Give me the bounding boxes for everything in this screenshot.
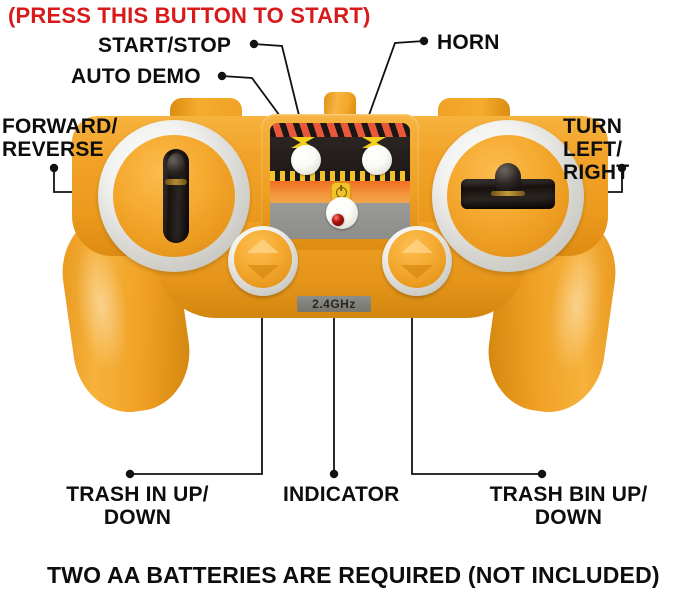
- leader-dot-trash-in: [126, 470, 134, 478]
- callout-label-trash-in: TRASH IN UP/ DOWN: [55, 483, 220, 529]
- hazard-stripe-band: [270, 123, 410, 137]
- vertical-lever-icon[interactable]: [163, 149, 189, 243]
- leader-dot-auto-demo: [218, 72, 226, 80]
- leader-dot-trash-bin: [538, 470, 546, 478]
- stick-bezel-left: [113, 135, 235, 257]
- callout-label-indicator: INDICATOR: [283, 483, 400, 506]
- callout-label-forward-reverse: FORWARD/ REVERSE: [2, 115, 118, 161]
- horizontal-lever-icon[interactable]: [461, 179, 555, 209]
- leader-dot-start-stop: [250, 40, 258, 48]
- dial-face-left: [234, 230, 292, 288]
- callout-label-auto-demo: AUTO DEMO: [71, 65, 201, 88]
- callout-label-turn-left-right: TURN LEFT/ RIGHT: [563, 115, 679, 184]
- dotted-band: [270, 171, 410, 181]
- start-stop-button[interactable]: [291, 145, 321, 175]
- turn-left-right-stick[interactable]: [432, 120, 584, 272]
- arrow-down-icon: [401, 265, 433, 279]
- horn-button[interactable]: [362, 145, 392, 175]
- trash-bin-dial[interactable]: [382, 226, 452, 296]
- forward-reverse-stick[interactable]: [98, 120, 250, 272]
- callout-label-trash-bin: TRASH BIN UP/ DOWN: [481, 483, 656, 529]
- rc-remote-controller: 2.4GHz: [60, 92, 620, 412]
- leader-dot-forward-reverse: [50, 164, 58, 172]
- callout-label-start-stop: START/STOP: [98, 34, 231, 57]
- stick-bezel-right: [447, 135, 569, 257]
- diagram-canvas: 2.4GHz (PRESS THIS BUTTON TO START) STAR…: [0, 0, 679, 600]
- trash-in-dial[interactable]: [228, 226, 298, 296]
- arrow-down-icon: [247, 265, 279, 279]
- indicator-led: [332, 214, 344, 226]
- arrow-up-icon: [401, 239, 433, 253]
- arrow-up-icon: [247, 239, 279, 253]
- press-to-start-note: (PRESS THIS BUTTON TO START): [8, 4, 371, 28]
- center-panel-housing: [261, 114, 419, 250]
- frequency-badge: 2.4GHz: [297, 296, 371, 312]
- callout-label-horn: HORN: [437, 31, 500, 54]
- leader-dot-indicator: [330, 470, 338, 478]
- battery-requirement-note: TWO AA BATTERIES ARE REQUIRED (NOT INCLU…: [47, 563, 660, 588]
- dial-face-right: [388, 230, 446, 288]
- leader-dot-horn: [420, 37, 428, 45]
